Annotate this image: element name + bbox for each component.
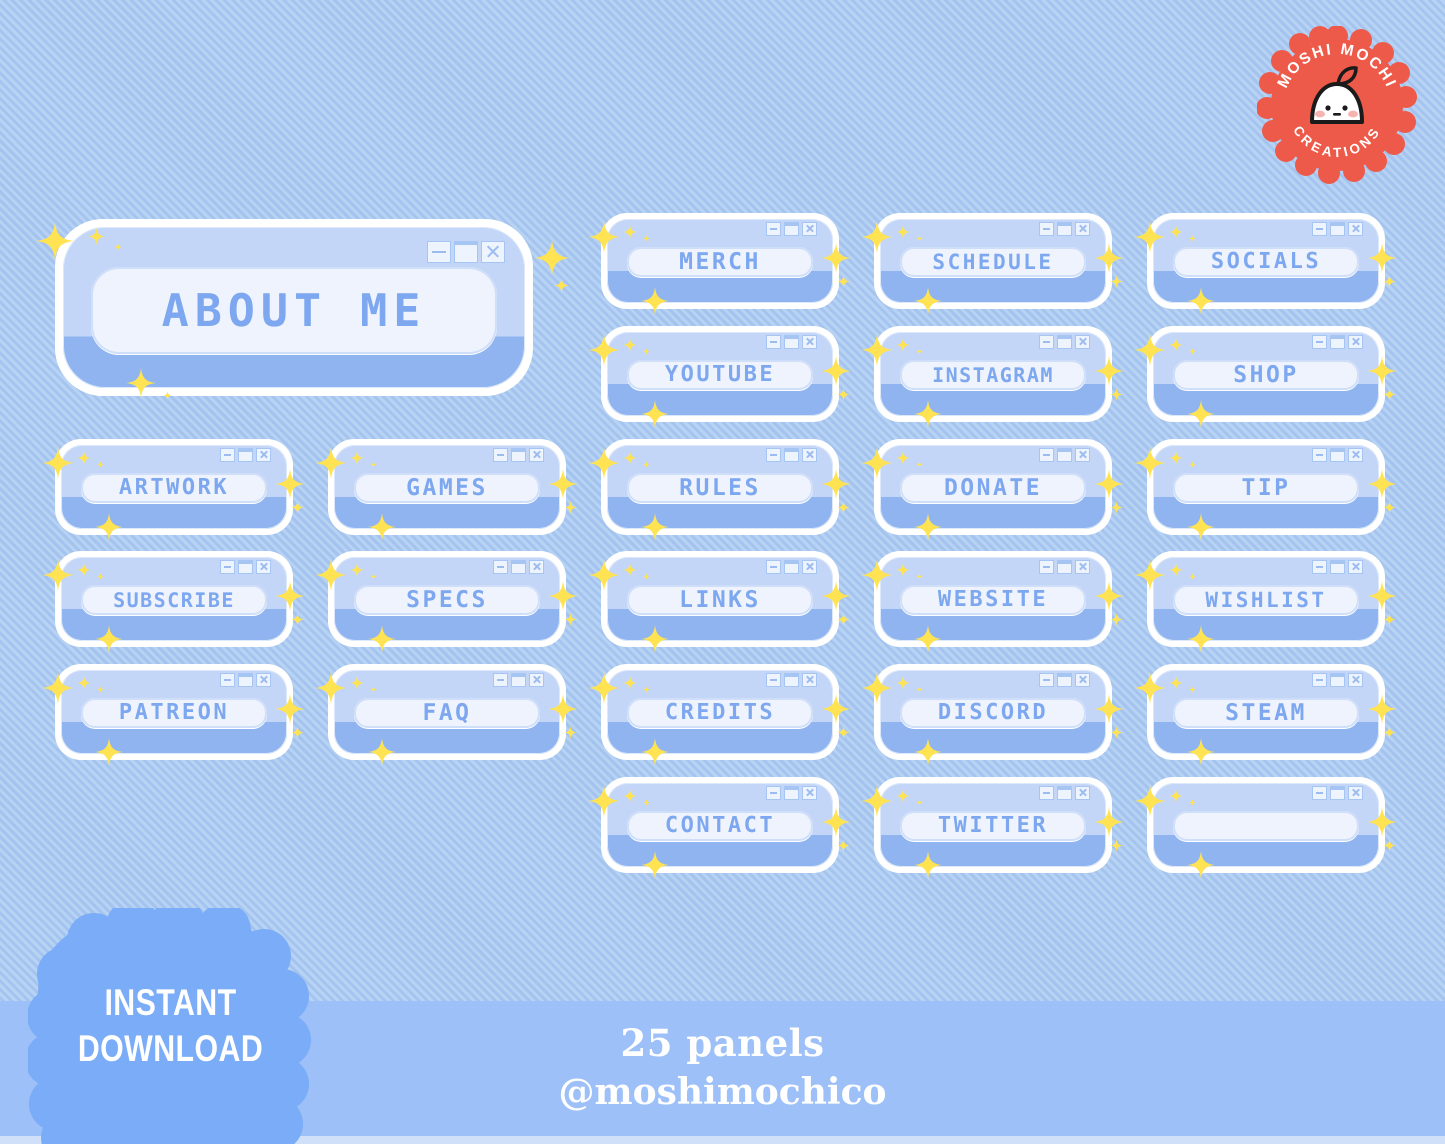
panel-screen: DONATE <box>900 473 1086 503</box>
close-icon[interactable] <box>1075 335 1090 349</box>
window-controls[interactable] <box>1039 222 1090 236</box>
minimize-icon[interactable] <box>1039 673 1054 687</box>
window-controls[interactable] <box>1312 222 1363 236</box>
panel-screen: CONTACT <box>627 811 813 841</box>
maximize-icon[interactable] <box>1057 448 1072 462</box>
window-controls[interactable] <box>220 448 271 462</box>
panel-website[interactable]: WEBSITE <box>874 551 1112 647</box>
window-controls[interactable] <box>766 448 817 462</box>
close-icon[interactable] <box>802 673 817 687</box>
panel-artwork[interactable]: ARTWORK <box>55 439 293 535</box>
window-controls[interactable] <box>220 673 271 687</box>
close-icon[interactable] <box>1075 560 1090 574</box>
maximize-icon[interactable] <box>1057 222 1072 236</box>
panel-label: YOUTUBE <box>665 364 775 386</box>
window-controls[interactable] <box>1039 335 1090 349</box>
window-controls[interactable] <box>1312 560 1363 574</box>
close-icon[interactable] <box>1075 673 1090 687</box>
window-controls[interactable] <box>493 560 544 574</box>
panel-rules[interactable]: RULES <box>601 439 839 535</box>
window-controls[interactable] <box>766 222 817 236</box>
window-controls[interactable] <box>1039 448 1090 462</box>
maximize-icon[interactable] <box>1057 560 1072 574</box>
panel-screen: INSTAGRAM <box>900 360 1086 390</box>
maximize-icon[interactable] <box>1330 673 1345 687</box>
panel-screen: LINKS <box>627 585 813 615</box>
panel-label: DISCORD <box>938 702 1048 724</box>
minimize-icon[interactable] <box>220 673 235 687</box>
panel-screen: SCHEDULE <box>900 247 1086 277</box>
panel-screen: CREDITS <box>627 698 813 728</box>
maximize-icon[interactable] <box>1330 448 1345 462</box>
maximize-icon[interactable] <box>1057 786 1072 800</box>
panel-label: CREDITS <box>665 702 775 724</box>
panel-screen: ABOUT ME <box>91 267 497 354</box>
panel-twitter[interactable]: TWITTER <box>874 777 1112 873</box>
maximize-icon[interactable] <box>1330 222 1345 236</box>
window-controls[interactable] <box>1039 673 1090 687</box>
maximize-icon[interactable] <box>238 560 253 574</box>
minimize-icon[interactable] <box>766 448 781 462</box>
maximize-icon[interactable] <box>784 222 799 236</box>
panel-specs[interactable]: SPECS <box>328 551 566 647</box>
maximize-icon[interactable] <box>511 673 526 687</box>
scalloped-badge-icon: MOSHI MOCHI CREATIONS <box>1257 26 1417 184</box>
close-icon[interactable] <box>1348 673 1363 687</box>
minimize-icon[interactable] <box>1312 448 1327 462</box>
maximize-icon[interactable] <box>784 448 799 462</box>
minimize-icon[interactable] <box>766 786 781 800</box>
minimize-icon[interactable] <box>493 448 508 462</box>
window-controls[interactable] <box>220 560 271 574</box>
instant-download-badge: INSTANT DOWNLOAD <box>28 908 313 1144</box>
minimize-icon[interactable] <box>1312 673 1327 687</box>
window-controls[interactable] <box>766 335 817 349</box>
panel-screen: FAQ <box>354 698 540 728</box>
brand-logo-badge: MOSHI MOCHI CREATIONS <box>1257 26 1417 184</box>
minimize-icon[interactable] <box>1039 222 1054 236</box>
panel-links[interactable]: LINKS <box>601 551 839 647</box>
panel-label: MERCH <box>679 251 761 274</box>
panel-label: SOCIALS <box>1211 251 1321 273</box>
close-icon[interactable] <box>529 560 544 574</box>
panel-screen: TWITTER <box>900 811 1086 841</box>
minimize-icon[interactable] <box>493 560 508 574</box>
panel-label: ARTWORK <box>119 477 229 499</box>
panel-label: LINKS <box>679 589 761 612</box>
minimize-icon[interactable] <box>766 335 781 349</box>
maximize-icon[interactable] <box>784 560 799 574</box>
minimize-icon[interactable] <box>1312 786 1327 800</box>
minimize-icon[interactable] <box>220 560 235 574</box>
minimize-icon[interactable] <box>766 560 781 574</box>
panel-tip[interactable]: TIP <box>1147 439 1385 535</box>
panel-screen: DISCORD <box>900 698 1086 728</box>
panel-screen: SOCIALS <box>1173 247 1359 277</box>
panel-label: TIP <box>1241 477 1290 500</box>
social-handle-text: @moshimochico <box>340 1069 1105 1116</box>
panel-label: WISHLIST <box>1205 590 1326 611</box>
close-icon[interactable] <box>1348 448 1363 462</box>
maximize-icon[interactable] <box>511 560 526 574</box>
panel-label: STEAM <box>1225 702 1307 725</box>
window-controls[interactable] <box>1312 673 1363 687</box>
minimize-icon[interactable] <box>1039 335 1054 349</box>
window-controls[interactable] <box>1312 335 1363 349</box>
panel-youtube[interactable]: YOUTUBE <box>601 326 839 422</box>
instant-download-text: INSTANT DOWNLOAD <box>54 908 288 1144</box>
panel-screen: GAMES <box>354 473 540 503</box>
panel-wishlist[interactable]: WISHLIST <box>1147 551 1385 647</box>
close-icon[interactable] <box>256 560 271 574</box>
blob-line-2: DOWNLOAD <box>78 1026 263 1072</box>
panel-donate[interactable]: DONATE <box>874 439 1112 535</box>
panel-screen: RULES <box>627 473 813 503</box>
panel-screen: MERCH <box>627 247 813 277</box>
panel-screen: SUBSCRIBE <box>81 585 267 615</box>
minimize-icon[interactable] <box>1039 448 1054 462</box>
panel-screen: STEAM <box>1173 698 1359 728</box>
maximize-icon[interactable] <box>511 448 526 462</box>
footer-text-block: 25 panels @moshimochico <box>340 1020 1105 1116</box>
close-icon[interactable] <box>529 448 544 462</box>
maximize-icon[interactable] <box>784 673 799 687</box>
panel-about-me[interactable]: ABOUT ME <box>55 219 533 396</box>
window-controls[interactable] <box>1039 786 1090 800</box>
window-controls[interactable] <box>427 241 505 263</box>
maximize-icon[interactable] <box>1330 560 1345 574</box>
minimize-icon[interactable] <box>1312 335 1327 349</box>
close-icon[interactable] <box>802 786 817 800</box>
minimize-icon[interactable] <box>766 673 781 687</box>
maximize-icon[interactable] <box>238 673 253 687</box>
panel-label: SUBSCRIBE <box>113 590 235 610</box>
close-icon[interactable] <box>529 673 544 687</box>
window-controls[interactable] <box>766 673 817 687</box>
close-icon[interactable] <box>802 335 817 349</box>
window-controls[interactable] <box>493 673 544 687</box>
minimize-icon[interactable] <box>220 448 235 462</box>
window-controls[interactable] <box>1312 448 1363 462</box>
panel-patreon[interactable]: PATREON <box>55 664 293 760</box>
close-icon[interactable] <box>1075 448 1090 462</box>
panel-label: TWITTER <box>938 815 1048 837</box>
panel-count-text: 25 panels <box>340 1020 1105 1066</box>
minimize-icon[interactable] <box>1039 786 1054 800</box>
panel-label: ABOUT ME <box>162 288 427 333</box>
close-icon[interactable] <box>802 560 817 574</box>
panel-screen: WEBSITE <box>900 585 1086 615</box>
window-controls[interactable] <box>1039 560 1090 574</box>
panel-merch[interactable]: MERCH <box>601 213 839 309</box>
window-controls[interactable] <box>493 448 544 462</box>
maximize-icon[interactable] <box>784 335 799 349</box>
panel-screen: SPECS <box>354 585 540 615</box>
panel-label: CONTACT <box>665 815 775 837</box>
panel-shop[interactable]: SHOP <box>1147 326 1385 422</box>
panel-screen: YOUTUBE <box>627 360 813 390</box>
minimize-icon[interactable] <box>1312 222 1327 236</box>
panel-label: WEBSITE <box>938 589 1048 611</box>
panel-label: DONATE <box>944 477 1042 500</box>
window-controls[interactable] <box>766 560 817 574</box>
maximize-icon[interactable] <box>1057 335 1072 349</box>
panel-subscribe[interactable]: SUBSCRIBE <box>55 551 293 647</box>
panel-steam[interactable]: STEAM <box>1147 664 1385 760</box>
panel-contact[interactable]: CONTACT <box>601 777 839 873</box>
close-icon[interactable] <box>256 448 271 462</box>
minimize-icon[interactable] <box>427 241 451 263</box>
window-controls[interactable] <box>1312 786 1363 800</box>
maximize-icon[interactable] <box>238 448 253 462</box>
close-icon[interactable] <box>1075 222 1090 236</box>
panel-blank[interactable] <box>1147 777 1385 873</box>
minimize-icon[interactable] <box>766 222 781 236</box>
panel-screen: TIP <box>1173 473 1359 503</box>
close-icon[interactable] <box>1075 786 1090 800</box>
maximize-icon[interactable] <box>1330 786 1345 800</box>
close-icon[interactable] <box>802 222 817 236</box>
close-icon[interactable] <box>802 448 817 462</box>
maximize-icon[interactable] <box>454 241 478 263</box>
close-icon[interactable] <box>1348 786 1363 800</box>
blob-line-1: INSTANT <box>104 980 236 1026</box>
panel-label: SCHEDULE <box>932 252 1053 273</box>
minimize-icon[interactable] <box>1039 560 1054 574</box>
panel-games[interactable]: GAMES <box>328 439 566 535</box>
close-icon[interactable] <box>1348 335 1363 349</box>
close-icon[interactable] <box>1348 222 1363 236</box>
panel-screen: ARTWORK <box>81 473 267 503</box>
maximize-icon[interactable] <box>784 786 799 800</box>
close-icon[interactable] <box>256 673 271 687</box>
close-icon[interactable] <box>1348 560 1363 574</box>
panel-screen: WISHLIST <box>1173 585 1359 615</box>
panel-socials[interactable]: SOCIALS <box>1147 213 1385 309</box>
panel-label: GAMES <box>406 477 488 500</box>
panel-label: SPECS <box>406 589 488 612</box>
panel-discord[interactable]: DISCORD <box>874 664 1112 760</box>
panel-label: PATREON <box>119 702 229 724</box>
panel-instagram[interactable]: INSTAGRAM <box>874 326 1112 422</box>
panel-label: SHOP <box>1233 364 1298 387</box>
panel-credits[interactable]: CREDITS <box>601 664 839 760</box>
close-icon[interactable] <box>481 241 505 263</box>
panel-label: FAQ <box>422 702 471 725</box>
panel-label: INSTAGRAM <box>932 365 1054 385</box>
window-controls[interactable] <box>766 786 817 800</box>
panel-schedule[interactable]: SCHEDULE <box>874 213 1112 309</box>
panel-screen <box>1173 811 1359 841</box>
panel-label: RULES <box>679 477 761 500</box>
panel-faq[interactable]: FAQ <box>328 664 566 760</box>
panel-screen: PATREON <box>81 698 267 728</box>
panel-screen: SHOP <box>1173 360 1359 390</box>
maximize-icon[interactable] <box>1057 673 1072 687</box>
maximize-icon[interactable] <box>1330 335 1345 349</box>
minimize-icon[interactable] <box>493 673 508 687</box>
minimize-icon[interactable] <box>1312 560 1327 574</box>
